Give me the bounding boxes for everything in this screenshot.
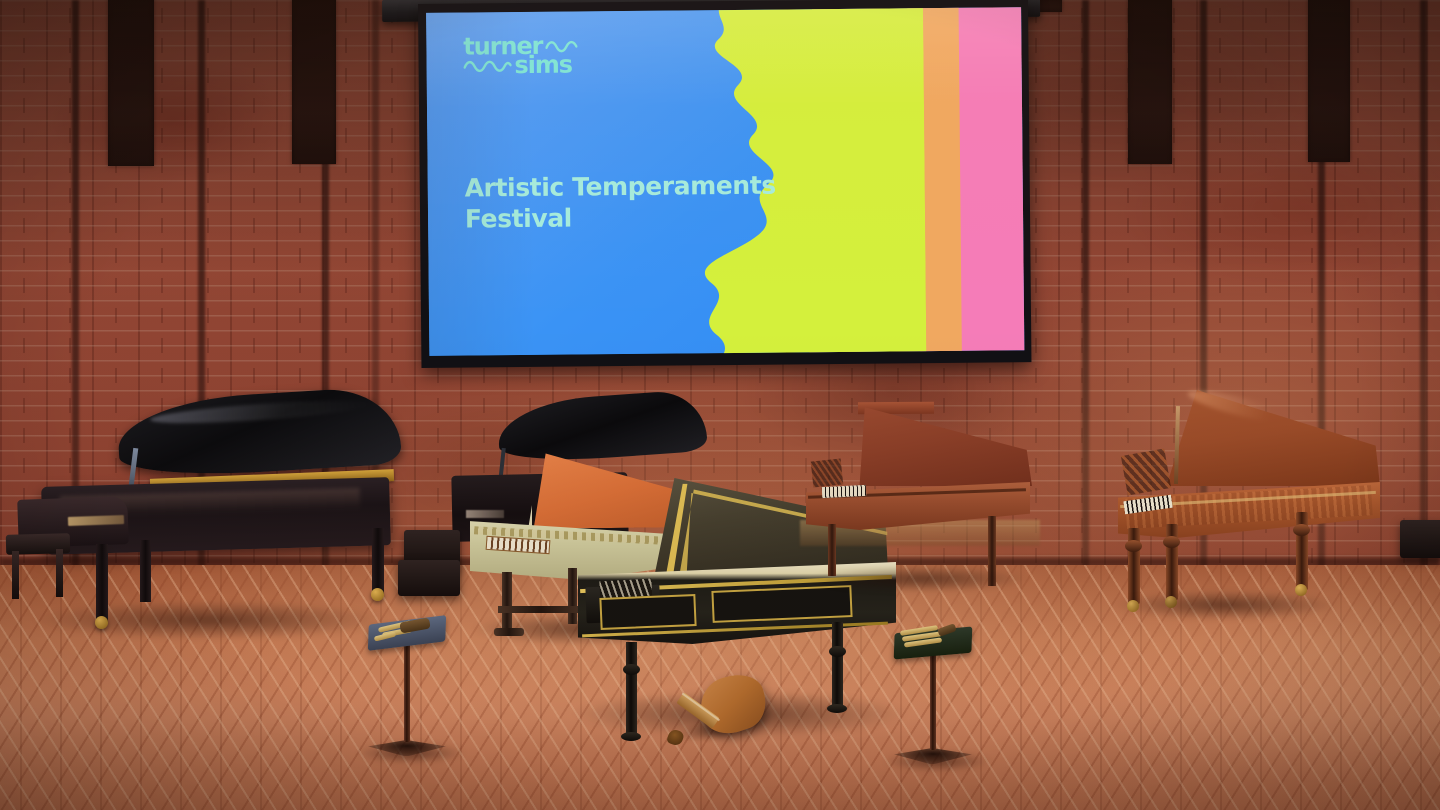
projection-screen-surface: turner sims [426, 7, 1024, 356]
harpsichord-stand-leg [502, 572, 512, 634]
harpsichord-leg-knob [623, 664, 640, 675]
fortepiano-keyboard [822, 485, 867, 498]
acoustic-panel-slot [108, 0, 154, 166]
fortepiano-leg [988, 516, 996, 586]
wall-pilaster [1082, 0, 1089, 600]
logo-word-sims: sims [514, 53, 572, 78]
piano-leg [96, 544, 108, 622]
music-stand-pole [404, 638, 410, 742]
fortepiano-caster [1165, 596, 1177, 608]
instrument-case-box [398, 560, 460, 596]
acoustic-panel-slot [1128, 0, 1172, 164]
music-stand-pole [930, 648, 936, 750]
piano-brand-decal [466, 510, 504, 518]
projection-screen: turner sims [418, 0, 1031, 368]
piano-leg [372, 528, 384, 594]
slide-title: Artistic Temperaments Festival [465, 171, 787, 235]
squiggle-wave-icon [463, 59, 511, 72]
stage-photograph: turner sims [0, 0, 1440, 810]
fortepiano-caster [1127, 600, 1139, 612]
wall-pilaster [1420, 0, 1427, 600]
harpsichord-leg [832, 622, 843, 710]
fortepiano-caster [1295, 584, 1307, 596]
fortepiano-leg-knob [1293, 524, 1310, 536]
harpsichord-leg-foot [621, 732, 641, 741]
fortepiano-leg [828, 524, 836, 576]
equipment-case [1400, 520, 1440, 558]
harpsichord-stand-leg [568, 568, 577, 624]
fortepiano-music-desk [811, 459, 844, 488]
turner-sims-logo: turner sims [463, 34, 585, 78]
piano-leg [140, 540, 151, 602]
acoustic-panel-slot [1308, 0, 1350, 162]
harpsichord-case-panel [599, 594, 696, 630]
piano-bench-leg [56, 549, 63, 597]
harpsichord-case-panel [711, 585, 852, 623]
slide-title-line-1: Artistic Temperaments [465, 171, 787, 205]
fortepiano-leg-knob [1163, 536, 1180, 548]
fortepiano-leg-knob [1125, 540, 1142, 552]
piano-bench-leg [12, 551, 19, 599]
harpsichord-stand-rail [498, 606, 584, 613]
harpsichord-leg-knob [829, 646, 846, 657]
harpsichord-stand-foot [494, 628, 524, 636]
piano-caster [371, 588, 384, 601]
acoustic-panel-slot [292, 0, 336, 164]
harpsichord-leg-foot [827, 704, 847, 713]
harpsichord-leg [626, 642, 637, 738]
fortepiano-music-desk [1121, 448, 1171, 495]
piano-caster [95, 616, 108, 629]
slide-title-line-2: Festival [465, 201, 787, 235]
